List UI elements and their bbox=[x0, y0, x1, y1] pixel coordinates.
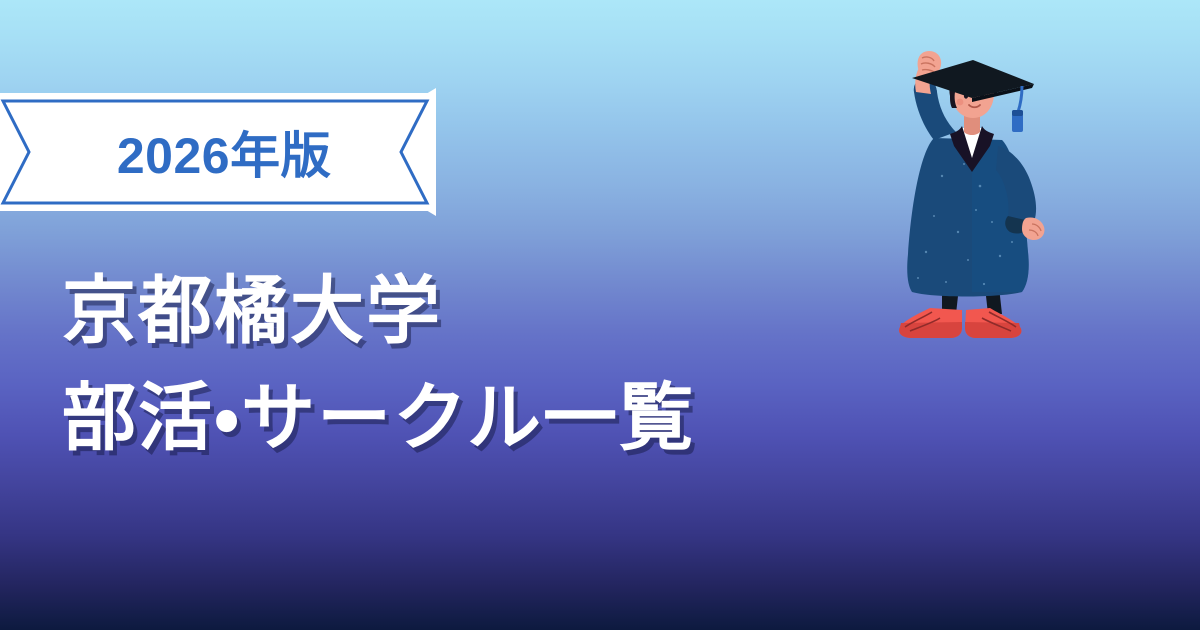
ribbon-year-label: 2026年版 bbox=[0, 98, 430, 206]
page-title-line-2: 部活・サークル一覧 bbox=[62, 365, 892, 472]
boots bbox=[899, 308, 1021, 338]
year-ribbon: 2026年版 bbox=[0, 88, 452, 216]
graduate-illustration bbox=[872, 46, 1072, 346]
banner-canvas: 2026年版 京都橘大学 部活・サークル一覧 bbox=[0, 0, 1200, 630]
page-title-line-1: 京都橘大学 bbox=[62, 258, 892, 365]
raised-arm bbox=[914, 51, 956, 140]
page-title: 京都橘大学 部活・サークル一覧 bbox=[62, 258, 892, 471]
